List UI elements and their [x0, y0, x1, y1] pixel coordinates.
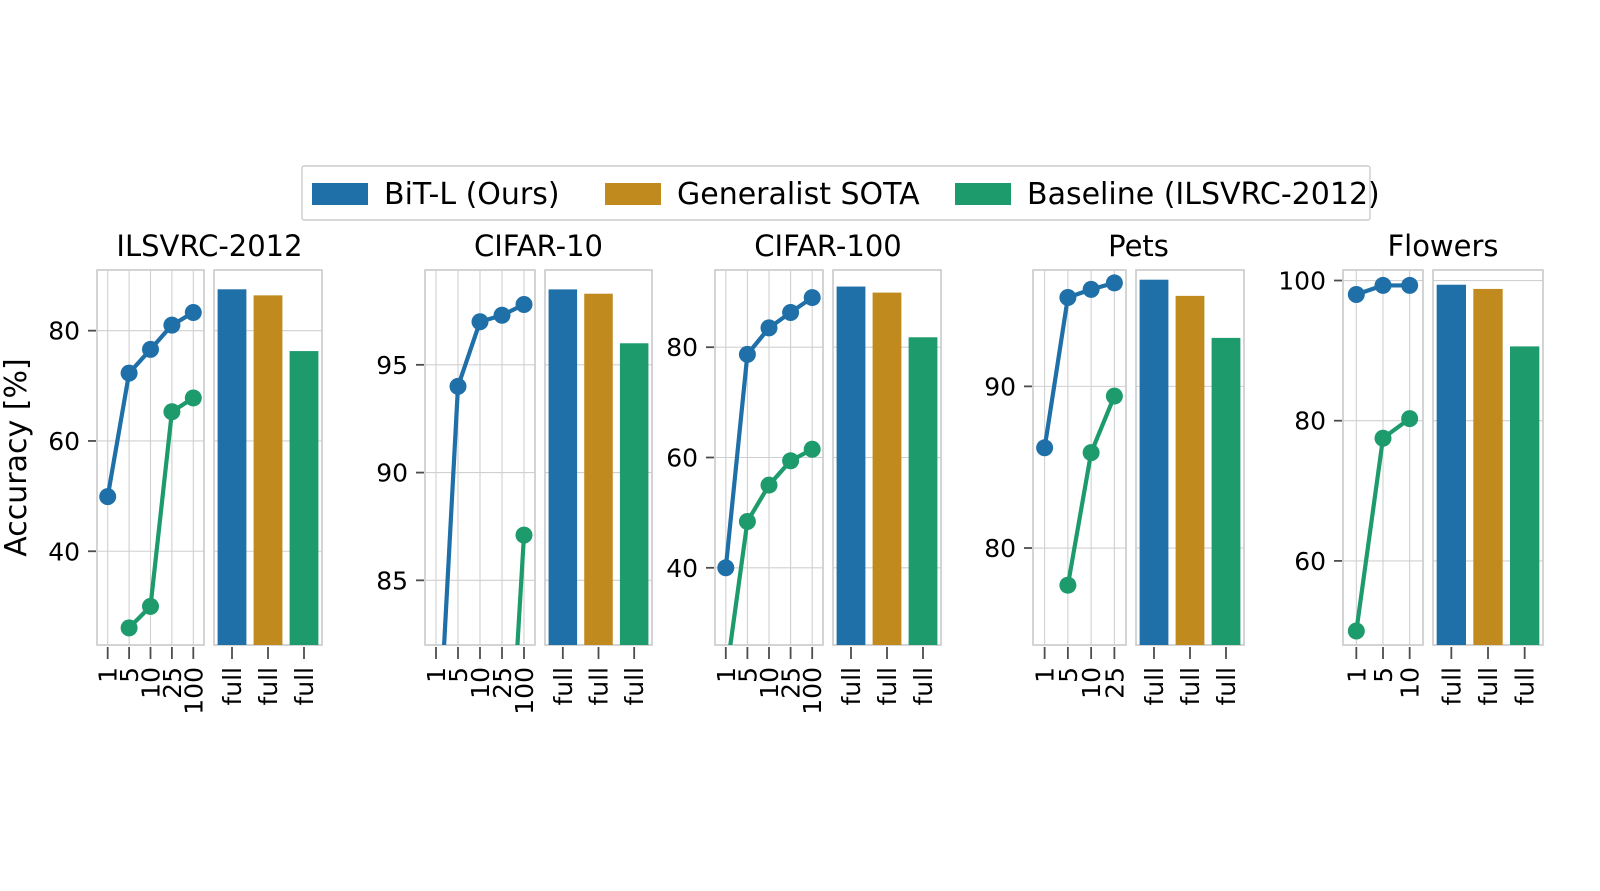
x-tick-label: 1 — [1342, 667, 1371, 683]
series-point — [1401, 277, 1418, 294]
series-point — [516, 527, 533, 544]
panel-title: Pets — [1108, 229, 1169, 263]
bar-bit-l — [1140, 280, 1169, 645]
chart-svg: BiT-L (Ours)Generalist SOTABaseline (ILS… — [0, 0, 1600, 891]
series-point — [782, 304, 799, 321]
legend-swatch-bit_l — [312, 183, 368, 205]
series-point — [142, 598, 159, 615]
legend: BiT-L (Ours)Generalist SOTABaseline (ILS… — [302, 166, 1380, 220]
x-tick-label: full — [1437, 667, 1466, 706]
y-tick-label: 60 — [1294, 547, 1326, 576]
y-tick-label: 100 — [1278, 267, 1326, 296]
x-tick-label: full — [1474, 667, 1503, 706]
x-tick-label: 5 — [1369, 667, 1398, 683]
y-tick-label: 80 — [48, 317, 80, 346]
bar-bit-l — [1437, 285, 1466, 645]
series-point — [1036, 439, 1053, 456]
legend-swatch-generalist_sota — [605, 183, 661, 205]
series-point — [1348, 622, 1365, 639]
bar-bit-l — [549, 289, 578, 645]
x-tick-label: full — [1511, 667, 1540, 706]
x-tick-label: 100 — [510, 667, 539, 715]
series-point — [804, 441, 821, 458]
y-tick-label: 60 — [666, 444, 698, 473]
series-point — [1401, 410, 1418, 427]
x-tick-label: full — [1140, 667, 1169, 706]
y-tick-label: 80 — [666, 333, 698, 362]
series-point — [717, 559, 734, 576]
series-point — [1083, 444, 1100, 461]
x-tick-label: full — [254, 667, 283, 706]
series-point — [516, 296, 533, 313]
y-tick-label: 40 — [666, 554, 698, 583]
series-point — [163, 403, 180, 420]
series-point — [1059, 289, 1076, 306]
y-tick-label: 85 — [376, 566, 408, 595]
y-axis-label: Accuracy [%] — [0, 358, 34, 556]
y-tick-label: 40 — [48, 537, 80, 566]
bar-baseline — [290, 351, 319, 645]
series-point — [142, 341, 159, 358]
legend-label-bit_l: BiT-L (Ours) — [384, 177, 560, 212]
panel-title: CIFAR-100 — [754, 229, 901, 263]
bar-baseline — [1212, 338, 1241, 645]
legend-swatch-baseline — [955, 183, 1011, 205]
x-tick-label: 100 — [798, 667, 827, 715]
bar-generalist-sota — [254, 295, 283, 645]
legend-label-baseline: Baseline (ILSVRC-2012) — [1027, 177, 1380, 212]
x-tick-label: full — [1212, 667, 1241, 706]
series-point — [99, 488, 116, 505]
x-tick-label: full — [837, 667, 866, 706]
panel-title: CIFAR-10 — [474, 229, 603, 263]
series-point — [1375, 277, 1392, 294]
bar-generalist-sota — [1473, 289, 1502, 645]
series-point — [185, 389, 202, 406]
legend-label-generalist_sota: Generalist SOTA — [677, 177, 920, 212]
x-tick-label: 25 — [1100, 667, 1129, 699]
bar-generalist-sota — [1176, 296, 1205, 645]
figure-canvas: BiT-L (Ours)Generalist SOTABaseline (ILS… — [0, 0, 1600, 891]
y-tick-label: 80 — [1294, 407, 1326, 436]
x-tick-label: full — [620, 667, 649, 706]
series-point — [1083, 281, 1100, 298]
series-point — [739, 513, 756, 530]
series-point — [804, 289, 821, 306]
x-tick-label: 100 — [179, 667, 208, 715]
series-point — [450, 378, 467, 395]
series-point — [1375, 430, 1392, 447]
panel-title: Flowers — [1387, 229, 1498, 263]
bar-bit-l — [837, 287, 866, 645]
series-point — [163, 317, 180, 334]
series-point — [1106, 274, 1123, 291]
series-point — [1106, 388, 1123, 405]
x-tick-label: full — [1176, 667, 1205, 706]
bar-baseline — [1510, 346, 1539, 645]
bar-generalist-sota — [873, 293, 902, 645]
x-tick-label: full — [873, 667, 902, 706]
series-point — [121, 365, 138, 382]
x-tick-label: full — [290, 667, 319, 706]
x-tick-label: full — [218, 667, 247, 706]
bar-generalist-sota — [584, 294, 613, 645]
panel-title: ILSVRC-2012 — [116, 229, 302, 263]
x-tick-label: full — [909, 667, 938, 706]
series-point — [472, 313, 489, 330]
y-tick-label: 90 — [984, 372, 1016, 401]
series-point — [1348, 286, 1365, 303]
series-point — [761, 319, 778, 336]
series-point — [185, 304, 202, 321]
bar-bit-l — [218, 289, 247, 645]
y-tick-label: 80 — [984, 534, 1016, 563]
series-point — [121, 619, 138, 636]
series-point — [761, 477, 778, 494]
y-tick-label: 60 — [48, 427, 80, 456]
bar-baseline — [909, 337, 938, 645]
series-point — [739, 346, 756, 363]
y-tick-label: 90 — [376, 459, 408, 488]
series-point — [782, 452, 799, 469]
series-point — [494, 307, 511, 324]
x-tick-label: full — [585, 667, 614, 706]
series-point — [1059, 577, 1076, 594]
bar-baseline — [620, 343, 649, 645]
x-tick-label: full — [549, 667, 578, 706]
y-tick-label: 95 — [376, 351, 408, 380]
x-tick-label: 10 — [1396, 667, 1425, 699]
